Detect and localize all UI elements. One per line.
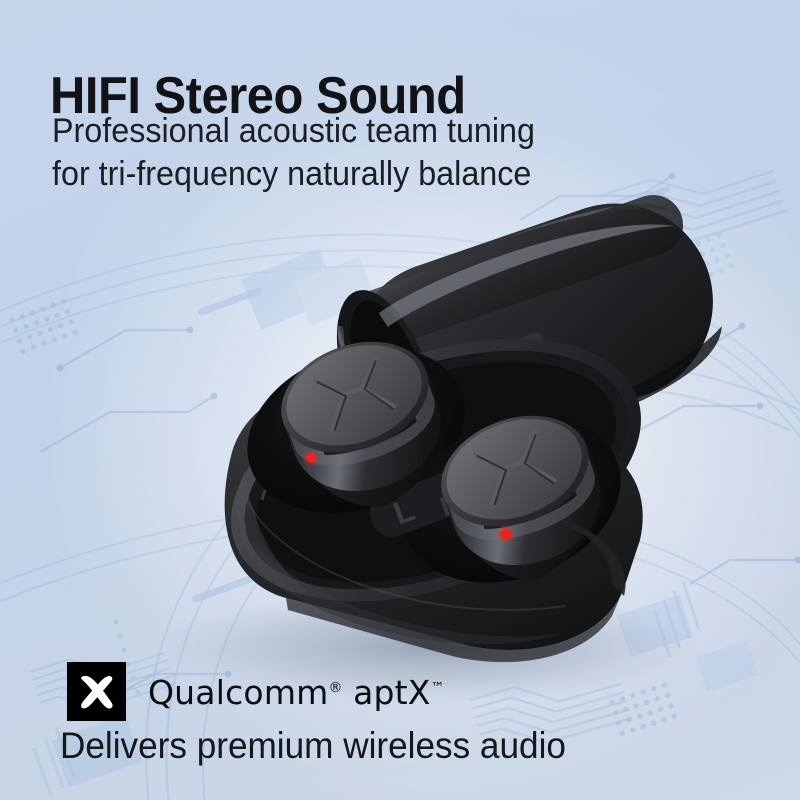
qualcomm-word: Qualcomm: [148, 673, 329, 712]
subtitle-line-1: Professional acoustic team tuning: [52, 110, 535, 153]
qualcomm-aptx-badge: Qualcomm® aptX™: [67, 662, 444, 721]
trademark-symbol: ™: [431, 680, 445, 696]
earbud-left: [266, 322, 466, 530]
earbud-led-left: [304, 451, 317, 464]
earbud-led-right: [499, 527, 513, 541]
case-label-right: R: [436, 486, 466, 522]
earbud-x-emblem-left: [314, 357, 394, 428]
subtitle-line-2: for tri-frequency naturally balance: [52, 153, 535, 196]
product-marketing-poster: L R: [0, 0, 800, 800]
tagline: Delivers premium wireless audio: [60, 727, 566, 766]
aptx-word: aptX: [342, 673, 430, 712]
subtitle: Professional acoustic team tuning for tr…: [52, 110, 535, 196]
case-label-left: L: [389, 491, 420, 532]
registered-symbol: ®: [329, 680, 343, 696]
earbud-x-emblem-right: [474, 431, 554, 502]
qualcomm-aptx-x-mark-icon: [67, 662, 126, 721]
qualcomm-aptx-wordmark: Qualcomm® aptX™: [148, 676, 444, 709]
earbud-right: [426, 396, 626, 604]
